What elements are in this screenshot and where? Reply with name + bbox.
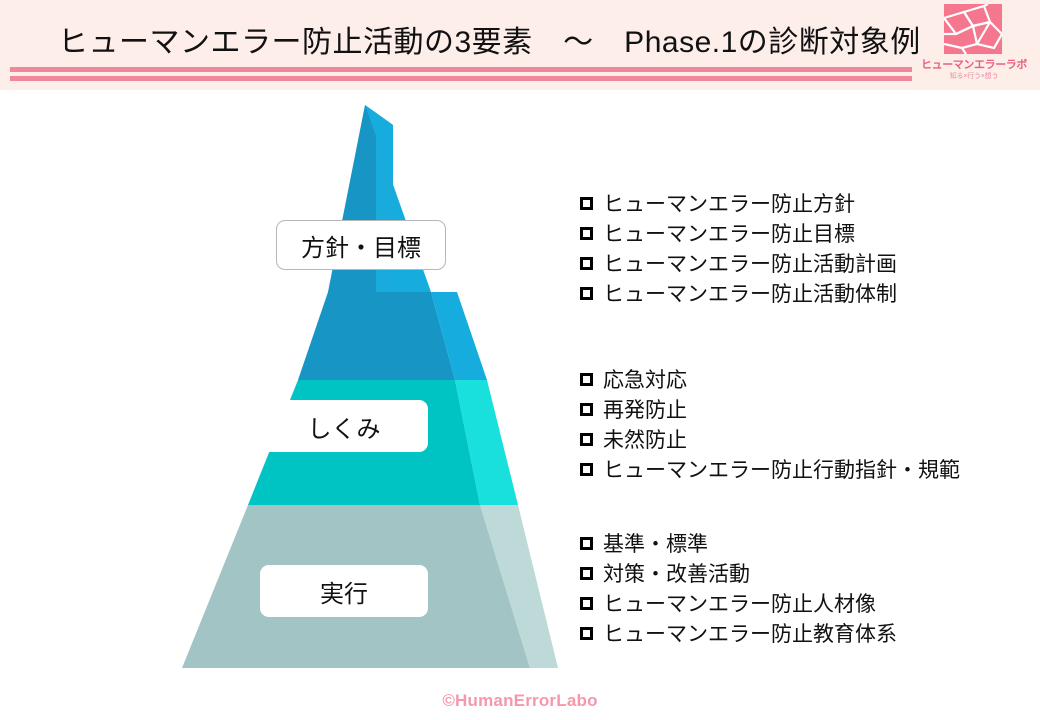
bullet-group-policy: ヒューマンエラー防止方針 ヒューマンエラー防止目標 ヒューマンエラー防止活動計画…	[580, 190, 1030, 310]
pyramid-top-block-face	[298, 292, 455, 380]
checkbox-square-icon	[580, 537, 593, 550]
list-item: ヒューマンエラー防止教育体系	[580, 620, 1030, 650]
pink-mesh-square-logo-icon	[944, 4, 1002, 54]
logo-name: ヒューマンエラーラボ	[912, 56, 1036, 72]
list-item-label: ヒューマンエラー防止教育体系	[603, 620, 897, 650]
list-item-label: ヒューマンエラー防止行動指針・規範	[603, 456, 960, 486]
list-item: ヒューマンエラー防止活動体制	[580, 280, 1030, 310]
bullet-group-execution: 基準・標準 対策・改善活動 ヒューマンエラー防止人材像 ヒューマンエラー防止教育…	[580, 530, 1030, 650]
pyramid-label-middle: しくみ	[260, 400, 428, 452]
pyramid-label-top: 方針・目標	[276, 220, 446, 270]
list-item: 再発防止	[580, 396, 1030, 426]
list-item: 未然防止	[580, 426, 1030, 456]
bullet-group-system: 応急対応 再発防止 未然防止 ヒューマンエラー防止行動指針・規範	[580, 366, 1030, 486]
list-item: ヒューマンエラー防止方針	[580, 190, 1030, 220]
list-item-label: ヒューマンエラー防止方針	[603, 190, 855, 220]
checkbox-square-icon	[580, 433, 593, 446]
checkbox-square-icon	[580, 627, 593, 640]
footer-copyright: ©HumanErrorLabo	[0, 691, 1040, 711]
list-item-label: ヒューマンエラー防止人材像	[603, 590, 876, 620]
header-rule-top	[10, 67, 912, 72]
checkbox-square-icon	[580, 567, 593, 580]
checkbox-square-icon	[580, 463, 593, 476]
pyramid-label-middle-text: しくみ	[308, 409, 381, 444]
list-item: 対策・改善活動	[580, 560, 1030, 590]
list-item-label: 再発防止	[603, 396, 687, 426]
list-item: ヒューマンエラー防止行動指針・規範	[580, 456, 1030, 486]
list-item: 応急対応	[580, 366, 1030, 396]
checkbox-square-icon	[580, 257, 593, 270]
logo-tagline: 知る×行う×想う	[912, 71, 1036, 81]
list-item-label: 基準・標準	[603, 530, 708, 560]
list-item-label: 対策・改善活動	[603, 560, 750, 590]
checkbox-square-icon	[580, 227, 593, 240]
list-item-label: ヒューマンエラー防止活動計画	[603, 250, 897, 280]
list-item: ヒューマンエラー防止活動計画	[580, 250, 1030, 280]
page-title: ヒューマンエラー防止活動の3要素 ～ Phase.1の診断対象例	[58, 17, 921, 61]
checkbox-square-icon	[580, 403, 593, 416]
list-item: 基準・標準	[580, 530, 1030, 560]
checkbox-square-icon	[580, 287, 593, 300]
list-item: ヒューマンエラー防止人材像	[580, 590, 1030, 620]
checkbox-square-icon	[580, 197, 593, 210]
list-item-label: ヒューマンエラー防止目標	[603, 220, 855, 250]
pyramid-diagram: 方針・目標 しくみ 実行	[150, 95, 580, 680]
list-item-label: 応急対応	[603, 366, 687, 396]
pyramid-label-bottom-text: 実行	[320, 574, 368, 609]
pyramid-label-top-text: 方針・目標	[301, 228, 421, 263]
checkbox-square-icon	[580, 373, 593, 386]
header-rule-bottom	[10, 76, 912, 81]
list-item-label: ヒューマンエラー防止活動体制	[603, 280, 897, 310]
list-item: ヒューマンエラー防止目標	[580, 220, 1030, 250]
checkbox-square-icon	[580, 597, 593, 610]
list-item-label: 未然防止	[603, 426, 687, 456]
brand-logo: ヒューマンエラーラボ 知る×行う×想う	[912, 2, 1036, 88]
pyramid-label-bottom: 実行	[260, 565, 428, 617]
